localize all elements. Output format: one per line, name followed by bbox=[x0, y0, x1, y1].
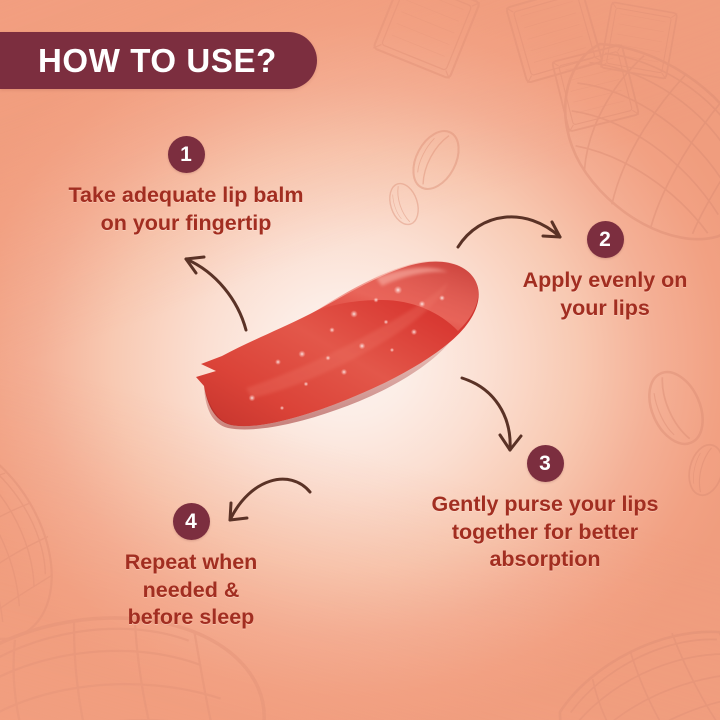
step-3-text: Gently purse your lips together for bett… bbox=[432, 491, 659, 574]
step-2-text: Apply evenly on your lips bbox=[523, 267, 688, 322]
step-4: 4 Repeat when needed & before sleep bbox=[80, 503, 302, 632]
step-4-text: Repeat when needed & before sleep bbox=[125, 549, 258, 632]
step-2-number-badge: 2 bbox=[587, 221, 624, 258]
step-2: 2 Apply evenly on your lips bbox=[496, 221, 714, 322]
poster-canvas: HOW TO USE? bbox=[0, 0, 720, 720]
step-1-number-badge: 1 bbox=[168, 136, 205, 173]
lip-balm-swatch-illustration bbox=[186, 238, 486, 438]
header-banner: HOW TO USE? bbox=[0, 32, 317, 89]
step-3: 3 Gently purse your lips together for be… bbox=[400, 445, 690, 574]
page-title: HOW TO USE? bbox=[38, 44, 277, 77]
step-1-text: Take adequate lip balm on your fingertip bbox=[69, 182, 304, 237]
step-1: 1 Take adequate lip balm on your fingert… bbox=[18, 136, 354, 237]
step-3-number-badge: 3 bbox=[527, 445, 564, 482]
step-4-number-badge: 4 bbox=[173, 503, 210, 540]
